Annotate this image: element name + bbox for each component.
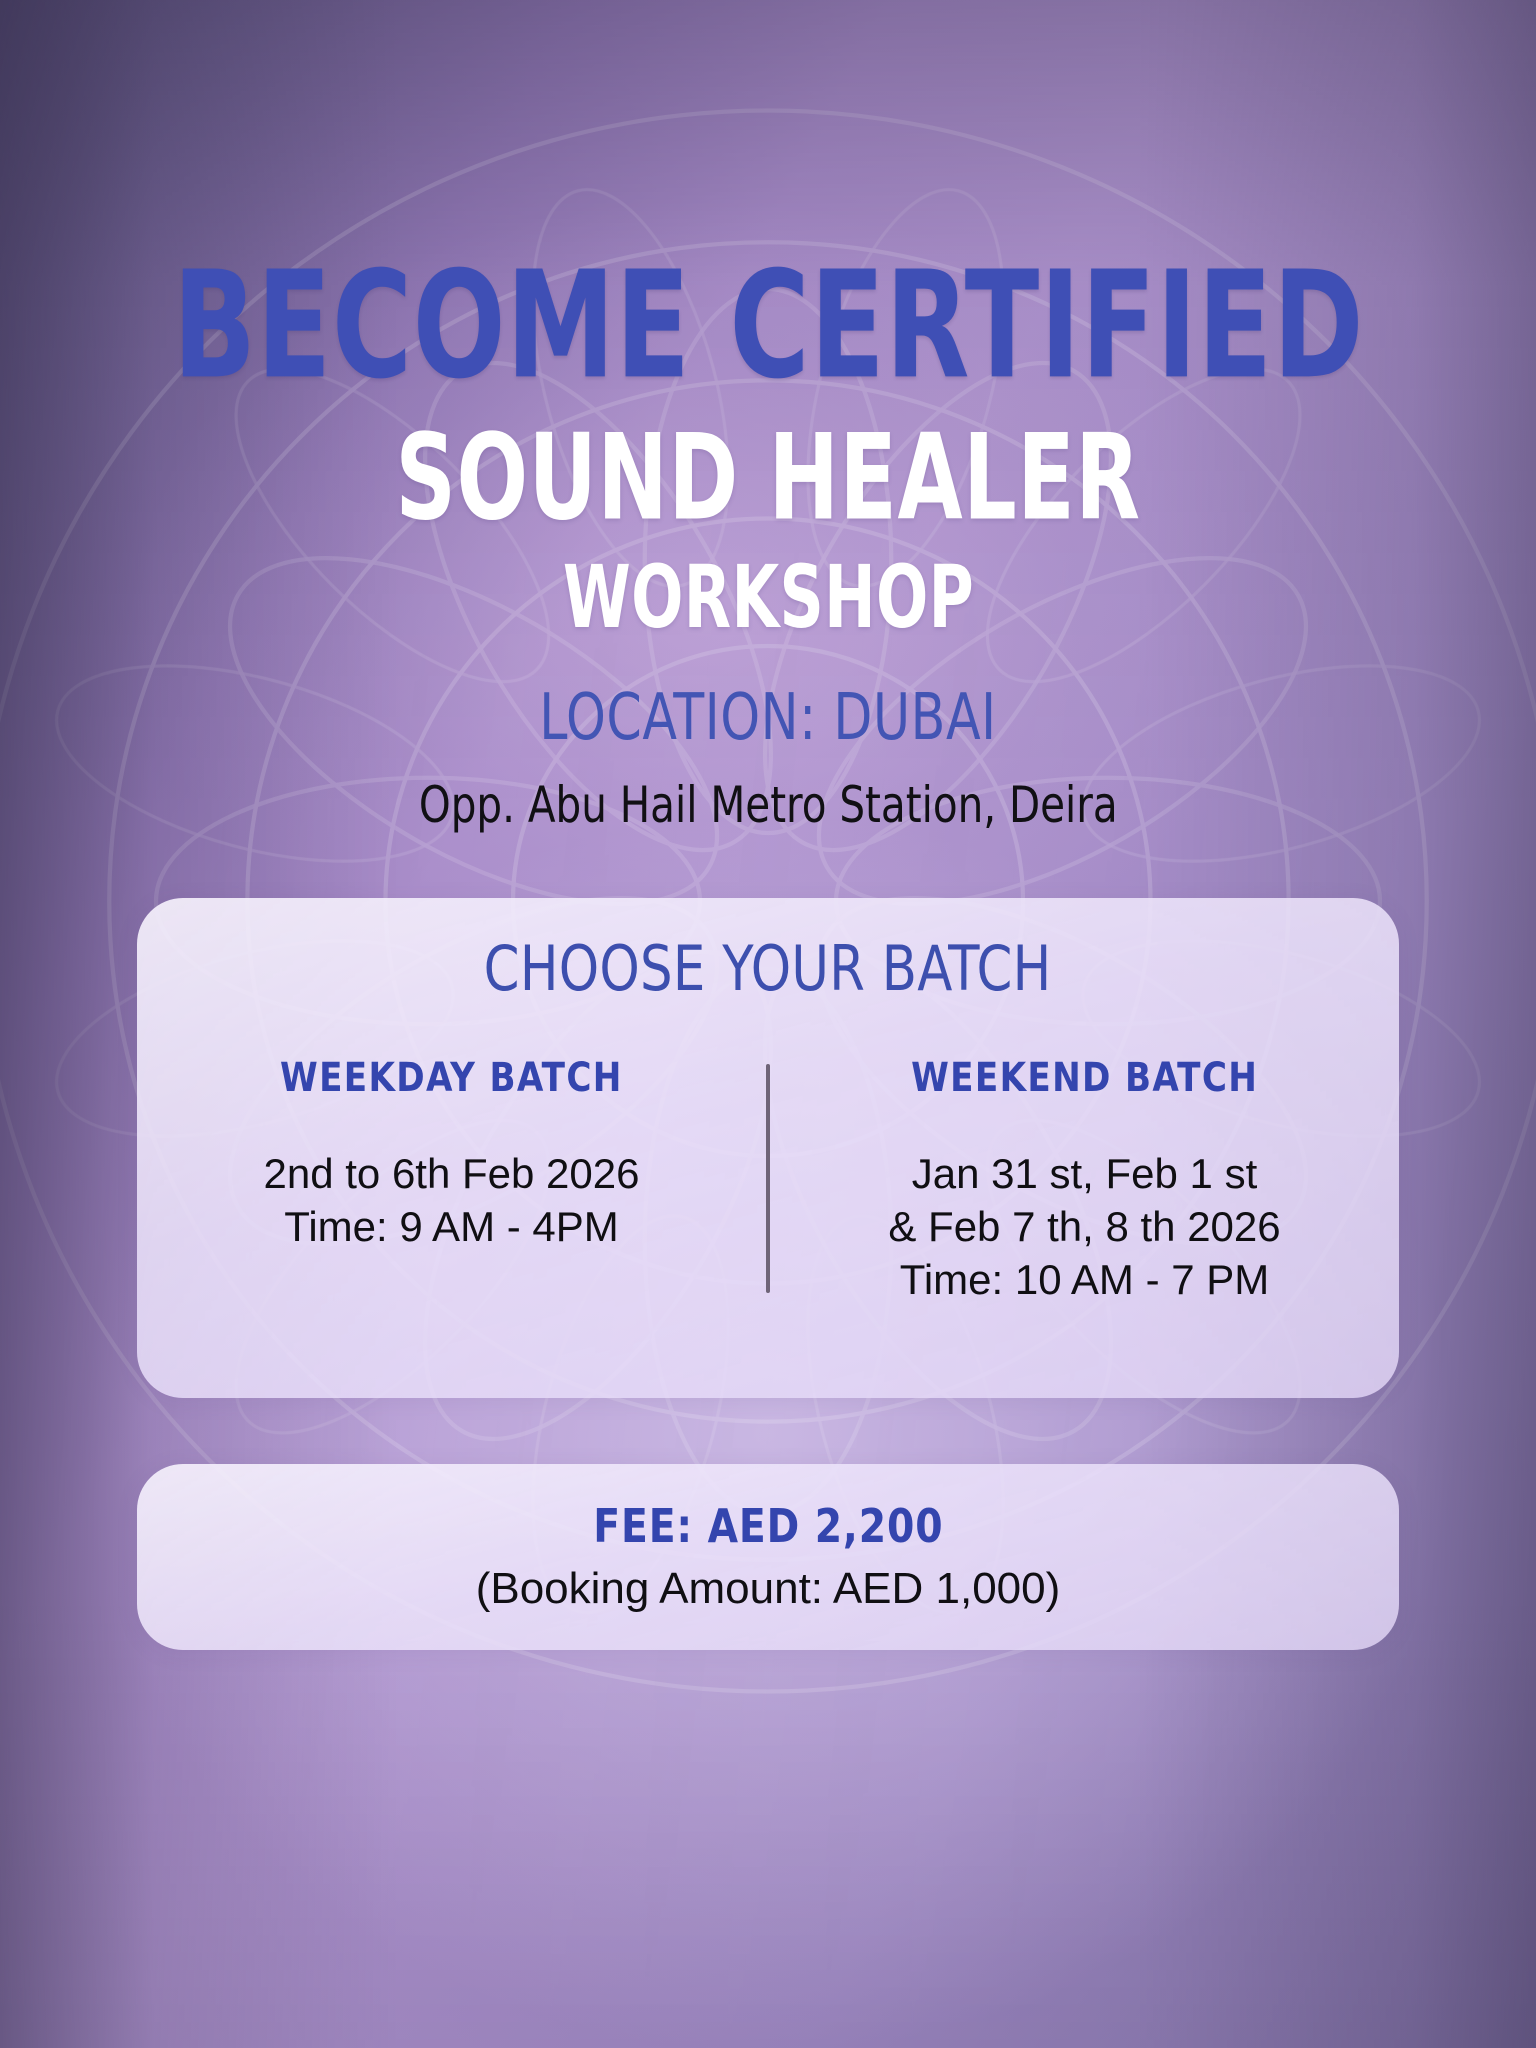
weekday-batch-title: WEEKDAY BATCH <box>280 1058 623 1098</box>
booking-amount-note: (Booking Amount: AED 1,000) <box>476 1567 1061 1611</box>
fee-card: FEE: AED 2,200 (Booking Amount: AED 1,00… <box>137 1464 1399 1650</box>
page-title-kind: WORKSHOP <box>562 554 973 641</box>
page-title: BECOME CERTIFIED <box>172 252 1363 400</box>
weekend-batch-title: WEEKEND BATCH <box>911 1058 1258 1098</box>
poster-canvas: BECOME CERTIFIED SOUND HEALER WORKSHOP L… <box>0 0 1536 2048</box>
page-subtitle: SOUND HEALER <box>395 418 1140 537</box>
location-heading: LOCATION: DUBAI <box>539 686 996 750</box>
fee-amount: FEE: AED 2,200 <box>593 1503 943 1549</box>
batch-columns: WEEKDAY BATCH 2nd to 6th Feb 2026 Time: … <box>137 1058 1399 1307</box>
address-text: Opp. Abu Hail Metro Station, Deira <box>419 780 1118 830</box>
batch-card-heading: CHOOSE YOUR BATCH <box>484 938 1052 1000</box>
poster-content: BECOME CERTIFIED SOUND HEALER WORKSHOP L… <box>0 0 1536 2048</box>
weekday-batch-details: 2nd to 6th Feb 2026 Time: 9 AM - 4PM <box>264 1148 640 1254</box>
batch-card: CHOOSE YOUR BATCH WEEKDAY BATCH 2nd to 6… <box>137 898 1399 1398</box>
weekday-batch-column[interactable]: WEEKDAY BATCH 2nd to 6th Feb 2026 Time: … <box>137 1058 766 1254</box>
weekend-batch-column[interactable]: WEEKEND BATCH Jan 31 st, Feb 1 st & Feb … <box>770 1058 1399 1307</box>
weekend-batch-details: Jan 31 st, Feb 1 st & Feb 7 th, 8 th 202… <box>888 1148 1280 1307</box>
